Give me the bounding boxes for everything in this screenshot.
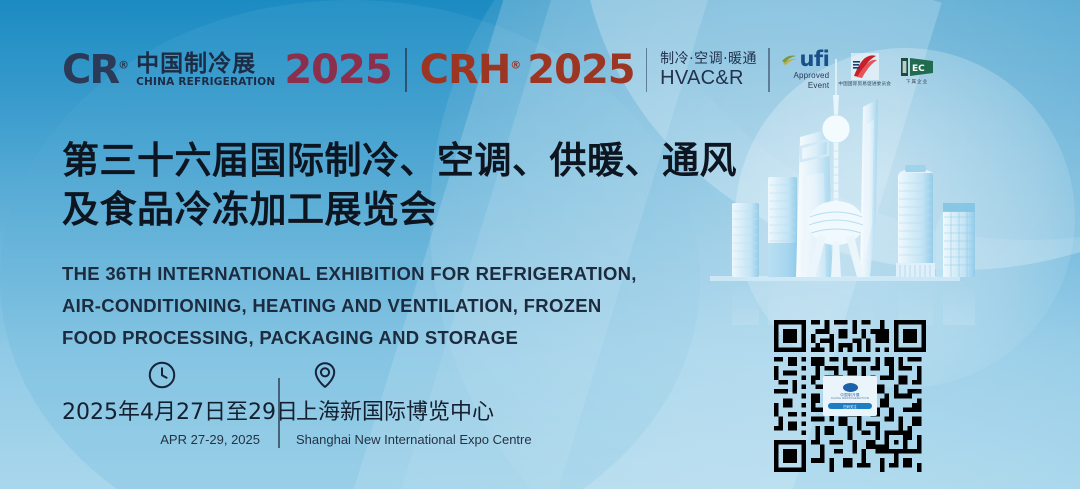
cr-name-cn: 中国制冷展 (136, 52, 275, 76)
crh-registered-icon: ® (510, 59, 521, 72)
cr-logo-letters: CR (62, 47, 118, 93)
event-date-block: 2025年4月27日至29日 APR 27-29, 2025 (62, 358, 262, 448)
cr-logo-names: 中国制冷展 CHINA REFRIGERATION (136, 52, 275, 89)
ufi-approved-line1: Approved (793, 71, 829, 81)
ufi-logo-row: ufi (781, 49, 830, 70)
clock-icon (62, 358, 262, 392)
cr-name-en: CHINA REFRIGERATION (136, 77, 275, 89)
qr-center-logo: 中国制冷展 CHINA REFRIGERATION 扫码关注 (823, 376, 877, 416)
qr-logo-banner: 扫码关注 (828, 403, 872, 409)
headline-line-2: 及食品冷冻加工展览会 (62, 185, 762, 234)
ufi-swoosh-icon (781, 52, 798, 67)
subtitle-line-2: AIR-CONDITIONING, HEATING AND VENTILATIO… (62, 290, 642, 322)
dec-logo: EC 下属企业 (900, 56, 934, 85)
logo-divider-1 (405, 48, 407, 92)
qr-logo-subtitle: CHINA REFRIGERATION (831, 397, 869, 401)
event-venue-en: Shanghai New International Expo Centre (296, 432, 532, 448)
ufi-approved-line2: Event (793, 81, 829, 91)
exhibition-banner: CR® 中国制冷展 CHINA REFRIGERATION 2025 CRH® … (0, 0, 1080, 489)
map-pin-icon (296, 358, 532, 392)
event-info-row: 2025年4月27日至29日 APR 27-29, 2025 上海新国际博览中心… (62, 358, 532, 448)
page-title: 第三十六届国际制冷、空调、供暖、通风 及食品冷冻加工展览会 (62, 136, 762, 234)
info-divider (278, 378, 280, 448)
ccpit-emblem-icon (851, 53, 879, 80)
ufi-approved-label: Approved Event (793, 71, 829, 91)
svg-text:EC: EC (912, 64, 925, 74)
wechat-qr-code[interactable]: 中国制冷展 CHINA REFRIGERATION 扫码关注 (765, 320, 935, 472)
crh-logo-letters: CRH (420, 47, 511, 93)
logo-divider-2 (646, 48, 648, 92)
event-venue-cn: 上海新国际博览中心 (296, 400, 532, 426)
cr-registered-icon: ® (118, 59, 129, 72)
cr-logo-mark: CR® (62, 50, 129, 90)
hvac-label-en: HVAC&R (660, 68, 757, 89)
logo-divider-3 (768, 48, 770, 92)
headline-line-1: 第三十六届国际制冷、空调、供暖、通风 (62, 136, 762, 185)
ccpit-caption: 中国国际贸易促进委员会 (838, 82, 891, 87)
ufi-wordmark: ufi (800, 49, 830, 70)
dec-caption: 下属企业 (906, 80, 928, 85)
event-date-cn: 2025年4月27日至29日 (62, 400, 262, 426)
subtitle-line-1: THE 36TH INTERNATIONAL EXHIBITION FOR RE… (62, 258, 642, 290)
cr-year: 2025 (284, 50, 391, 90)
crh-year: 2025 (527, 50, 634, 90)
crh-logo-mark: CRH® (420, 50, 522, 90)
hvac-label-cn: 制冷·空调·暖通 (660, 51, 757, 67)
event-venue-block: 上海新国际博览中心 Shanghai New International Exp… (296, 358, 532, 448)
dec-emblem-icon: EC (900, 56, 934, 78)
certification-logos: ufi Approved Event (781, 49, 935, 91)
qr-logo-banner-text: 扫码关注 (843, 404, 857, 409)
ccpit-certification-logo: 中国国际贸易促进委员会 (838, 53, 891, 87)
page-subtitle: THE 36TH INTERNATIONAL EXHIBITION FOR RE… (62, 258, 642, 353)
qr-logo-icon (843, 383, 858, 392)
subtitle-line-3: FOOD PROCESSING, PACKAGING AND STORAGE (62, 322, 642, 354)
event-date-en: APR 27-29, 2025 (62, 432, 262, 448)
hvac-labels: 制冷·空调·暖通 HVAC&R (660, 51, 757, 88)
logo-strip: CR® 中国制冷展 CHINA REFRIGERATION 2025 CRH® … (62, 44, 934, 96)
ufi-approved-event-logo: ufi Approved Event (781, 49, 830, 91)
